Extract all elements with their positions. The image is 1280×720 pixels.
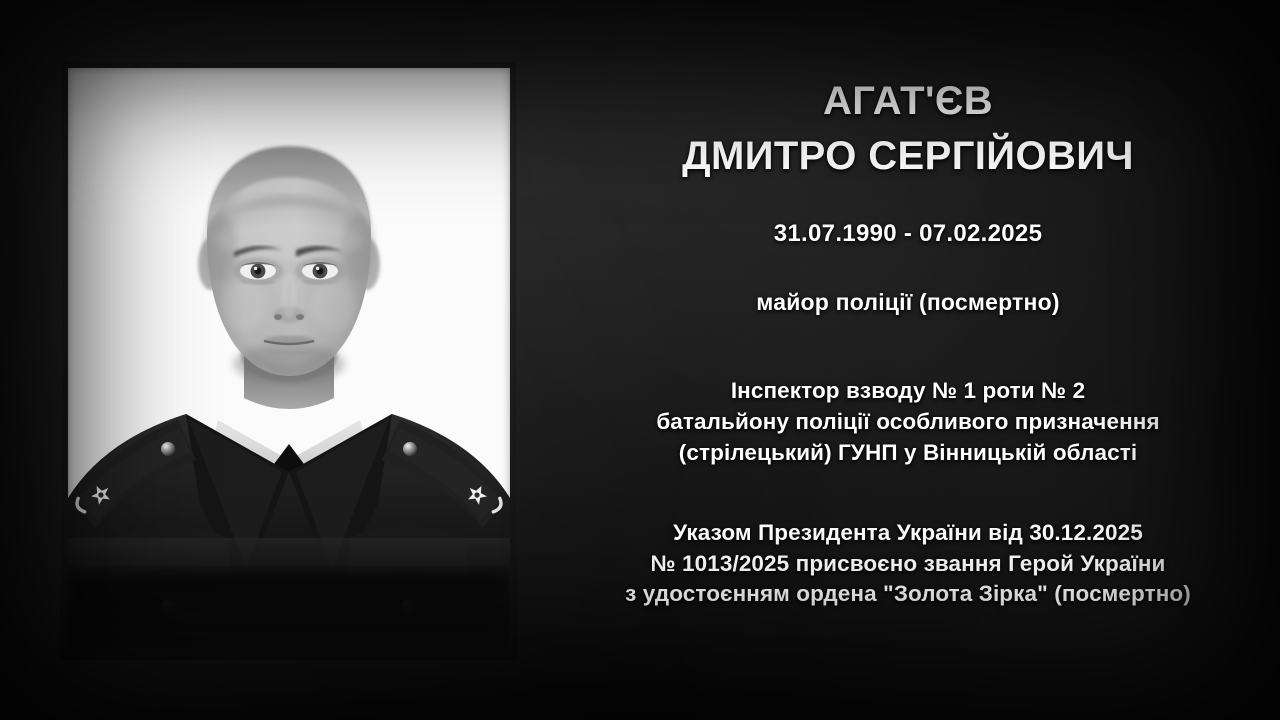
surname: АГАТ'ЄВ: [682, 74, 1134, 129]
memorial-card: АГАТ'ЄВ ДМИТРО СЕРГІЙОВИЧ 31.07.1990 - 0…: [0, 0, 1280, 720]
memorial-text-column: АГАТ'ЄВ ДМИТРО СЕРГІЙОВИЧ 31.07.1990 - 0…: [536, 0, 1280, 720]
rank: майор поліції (посмертно): [756, 289, 1059, 316]
position-line: (стрілецький) ГУНП у Вінницькій області: [656, 438, 1159, 469]
presidential-decree: Указом Президента України від 30.12.2025…: [625, 518, 1191, 610]
given-name-patronymic: ДМИТРО СЕРГІЙОВИЧ: [682, 129, 1134, 184]
position-line: Інспектор взводу № 1 роти № 2: [656, 376, 1159, 407]
portrait-photo: [68, 68, 510, 648]
decree-line: Указом Президента України від 30.12.2025: [625, 518, 1191, 549]
portrait-photo-image: [68, 68, 510, 648]
position-line: батальйону поліції особливого призначенн…: [656, 407, 1159, 438]
life-dates: 31.07.1990 - 07.02.2025: [774, 220, 1042, 248]
decree-line: з удостоєнням ордена "Золота Зірка" (пос…: [625, 579, 1191, 610]
position-description: Інспектор взводу № 1 роти № 2 батальйону…: [656, 376, 1159, 468]
full-name: АГАТ'ЄВ ДМИТРО СЕРГІЙОВИЧ: [682, 74, 1134, 184]
decree-line: № 1013/2025 присвоєно звання Герой Украї…: [625, 549, 1191, 580]
